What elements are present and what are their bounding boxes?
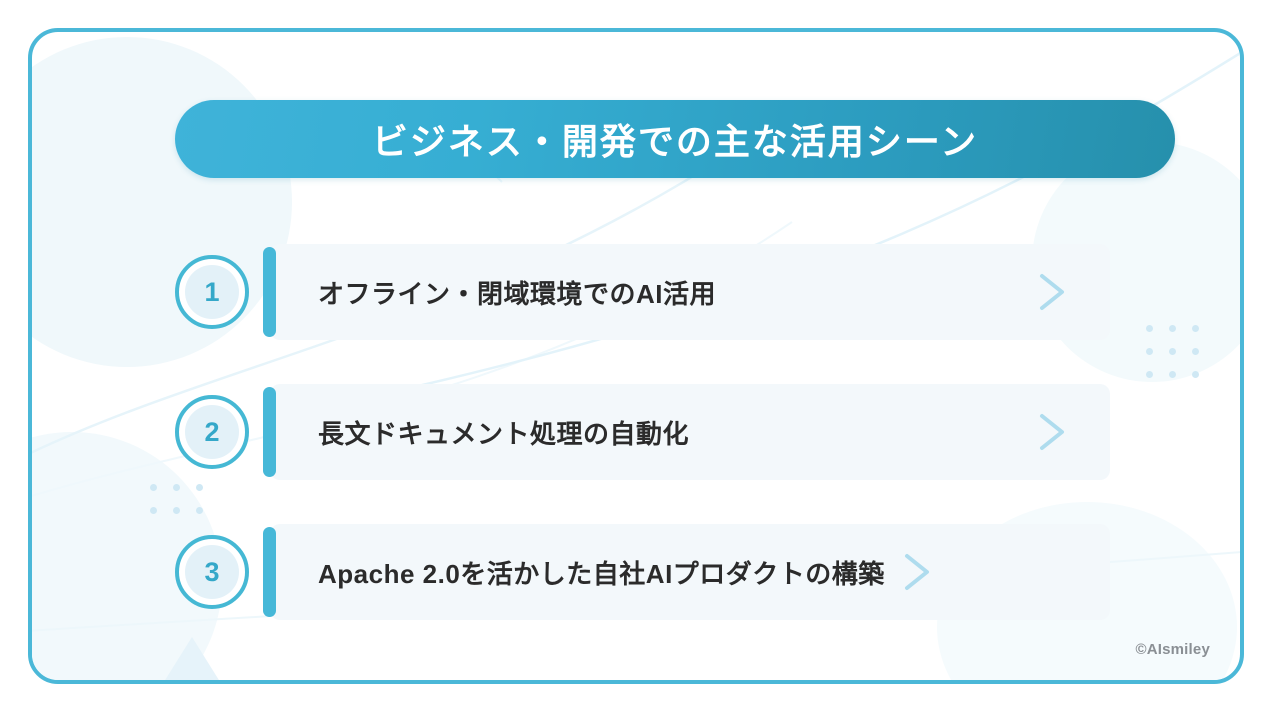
list-item-label: Apache 2.0を活かした自社AIプロダクトの構築 [318,554,885,591]
badge-inner-disc: 1 [185,265,239,319]
list-item-label: 長文ドキュメント処理の自動化 [318,414,689,451]
dot-grid-left [150,484,203,514]
chevron-right-icon[interactable] [1034,270,1068,314]
page-title: ビジネス・開発での主な活用シーン [372,113,978,165]
list-item-card[interactable]: 長文ドキュメント処理の自動化 [270,384,1110,480]
background-triangle [162,637,222,684]
list-item-number-badge: 2 [175,395,249,469]
slide-frame: ビジネス・開発での主な活用シーン オフライン・閉域環境でのAI活用 1 [28,28,1244,684]
list-item-card[interactable]: Apache 2.0を活かした自社AIプロダクトの構築 [270,524,1110,620]
list-item-label: オフライン・閉域環境でのAI活用 [318,274,716,311]
badge-number: 3 [204,559,219,586]
badge-inner-disc: 2 [185,405,239,459]
badge-number: 2 [204,419,219,446]
badge-inner-disc: 3 [185,545,239,599]
slide: ビジネス・開発での主な活用シーン オフライン・閉域環境でのAI活用 1 [0,0,1280,720]
list-item[interactable]: Apache 2.0を活かした自社AIプロダクトの構築 3 [175,524,1110,620]
list-item-accent-bar [263,247,276,337]
dot-grid-right [1146,325,1199,378]
list-item-accent-bar [263,527,276,617]
copyright-credit: ©AIsmiley [1135,641,1210,658]
chevron-right-icon[interactable] [899,550,933,594]
list-item-number-badge: 3 [175,535,249,609]
list-item[interactable]: オフライン・閉域環境でのAI活用 1 [175,244,1110,340]
chevron-right-icon[interactable] [1034,410,1068,454]
list-item[interactable]: 長文ドキュメント処理の自動化 2 [175,384,1110,480]
badge-number: 1 [204,279,219,306]
list-item-number-badge: 1 [175,255,249,329]
list-item-accent-bar [263,387,276,477]
list-item-card[interactable]: オフライン・閉域環境でのAI活用 [270,244,1110,340]
title-banner: ビジネス・開発での主な活用シーン [175,100,1175,178]
